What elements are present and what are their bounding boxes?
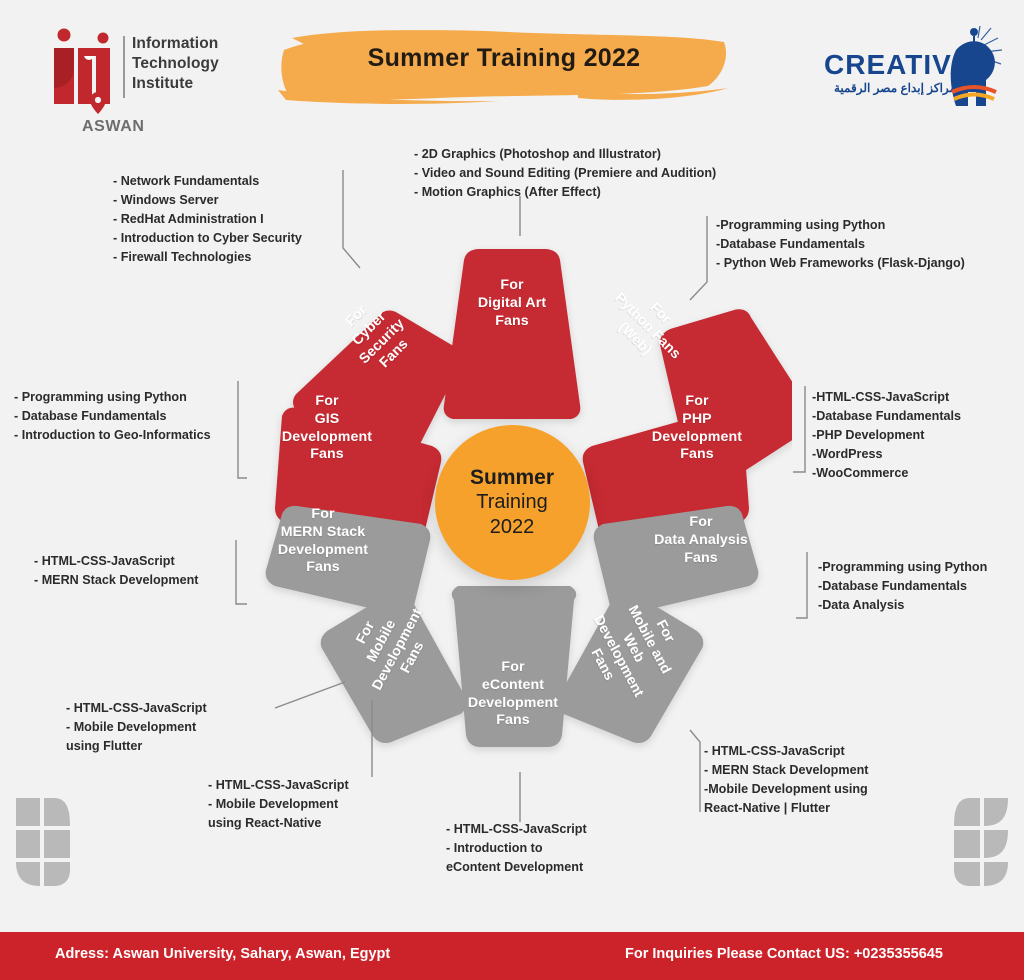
note-php-development: -HTML-CSS-JavaScript -Database Fundament… [812,388,961,482]
center-line-2: Training [476,490,548,514]
infographic-canvas: Information Technology Institute ASWAN S… [0,0,1024,980]
svg-text:CREATIVA: CREATIVA [824,49,971,80]
note-gis-development: - Programming using Python - Database Fu… [14,388,211,445]
note-python-web: -Programming using Python -Database Fund… [716,216,965,273]
footer-contact: For Inquiries Please Contact US: +023535… [625,946,943,962]
note-mern-stack: - HTML-CSS-JavaScript - MERN Stack Devel… [34,552,198,590]
note-mobile-development: - HTML-CSS-JavaScript - Mobile Developme… [66,699,207,756]
ornament-left [14,782,72,902]
segment-mobile-and-web[interactable] [553,585,711,757]
center-line-1: Summer [470,465,554,491]
svg-text:مراكز إبداع مصر الرقمية: مراكز إبداع مصر الرقمية [834,81,956,96]
note-cyber-security: - Network Fundamentals - Windows Server … [113,172,302,266]
segment-econtent[interactable] [452,586,577,747]
creativa-logo: CREATIVA مراكز إبداع مصر الرقمية [806,20,1006,112]
segment-digital-art[interactable] [444,249,581,419]
org-name: Information Technology Institute [132,34,250,93]
note-digital-art: - 2D Graphics (Photoshop and Illustrator… [414,145,716,202]
page-title: Summer Training 2022 [278,44,730,73]
footer-address: Adress: Aswan University, Sahary, Aswan,… [55,946,390,962]
training-wheel: For Digital Art Fans For Cyber Security … [232,222,792,782]
wheel-center: Summer Training 2022 [435,425,590,580]
footer-bar: Adress: Aswan University, Sahary, Aswan,… [0,932,1024,980]
iti-logo: Information Technology Institute ASWAN [40,26,250,136]
note-mobile-and-web: - HTML-CSS-JavaScript - MERN Stack Devel… [704,742,868,818]
location-pin-icon [90,92,106,114]
note-mobile-react-native: - HTML-CSS-JavaScript - Mobile Developme… [208,776,349,833]
segment-mobile-development[interactable] [314,585,472,757]
logo-divider [123,36,125,98]
branch-label: ASWAN [82,118,145,136]
header: Information Technology Institute ASWAN S… [0,0,1024,130]
ornament-right [952,782,1010,902]
note-data-analysis: -Programming using Python -Database Fund… [818,558,987,615]
center-line-3: 2022 [490,515,535,539]
note-econtent: - HTML-CSS-JavaScript - Introduction to … [446,820,587,877]
